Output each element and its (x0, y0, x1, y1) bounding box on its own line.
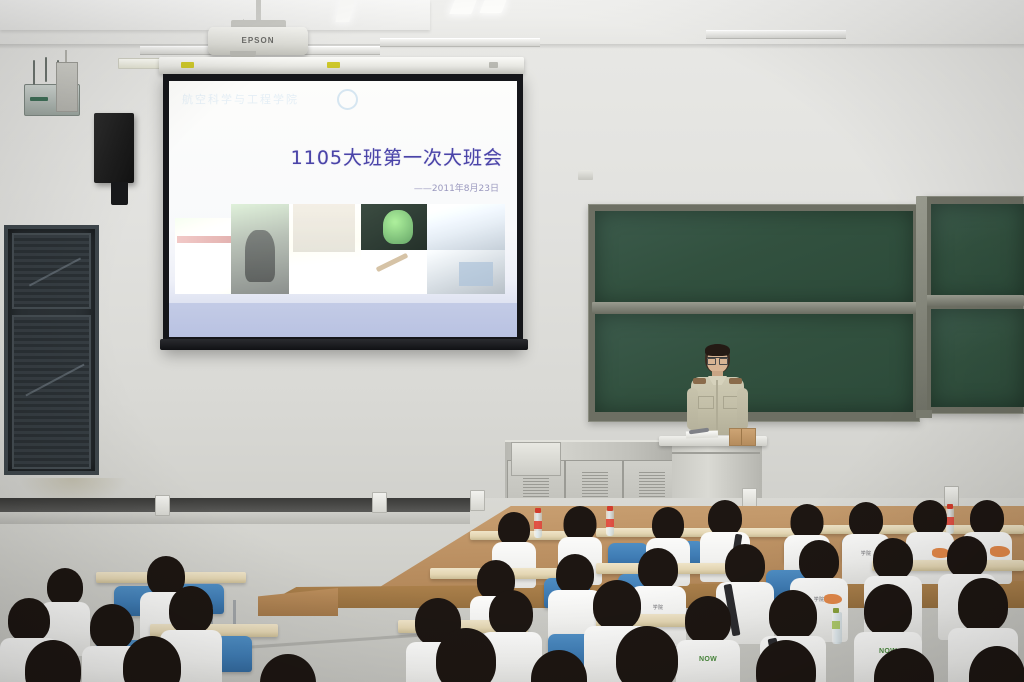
blackboard (588, 196, 1024, 422)
screen-bottom-weight-bar (160, 339, 528, 350)
collage-tile-green-figure (383, 210, 413, 244)
slide-footer-band (169, 303, 517, 337)
slide-title: 1105大班第一次大班会 (169, 143, 503, 170)
student-head (498, 512, 530, 546)
projector-brand-label: EPSON (208, 36, 308, 45)
student-r4-9 (966, 646, 1024, 682)
slide-institution-logo-icon (337, 89, 358, 110)
bottle-cap (607, 506, 613, 511)
student-head (873, 538, 913, 580)
student-head (708, 500, 742, 536)
student-r4-5 (520, 650, 598, 682)
presenter-arm-right (737, 388, 748, 430)
ceiling-projector: EPSON (208, 27, 308, 55)
student-head (874, 648, 934, 682)
classroom-photo-scene: EPSON 航空科学与工程学院 1105大班第一次大班会 ——2011年8月23… (0, 0, 1024, 682)
presenter-arm-left (687, 388, 698, 430)
cardboard-box (729, 428, 756, 446)
student-head (25, 640, 81, 682)
wall-vent (56, 62, 78, 112)
student-head (169, 586, 213, 634)
student-head (769, 590, 817, 640)
wall-batten-right (706, 30, 846, 39)
router-antenna-1 (33, 60, 35, 85)
blackboard-center-rail-left (592, 302, 918, 313)
wall-outlet-2 (372, 492, 387, 513)
student-r4-7 (744, 640, 828, 682)
wall-outlet-3 (470, 490, 485, 511)
tshirt-orange-graphic (824, 594, 842, 604)
bottle-label (832, 621, 840, 629)
projection-screen: 航空科学与工程学院 1105大班第一次大班会 ——2011年8月23日 (163, 74, 523, 349)
water-bottle-5 (832, 612, 842, 644)
slide-canvas: 航空科学与工程学院 1105大班第一次大班会 ——2011年8月23日 (169, 81, 517, 337)
collage-tile-red-banner (177, 236, 235, 243)
screen-label-right (489, 62, 498, 68)
student-head (799, 540, 839, 582)
smoke-detector (578, 170, 593, 180)
cabinet-louver-3 (639, 472, 665, 473)
blackboard-panel-lower-right (931, 309, 1024, 407)
wall-batten-mid (380, 38, 540, 47)
student-head (970, 500, 1004, 536)
student-head (652, 507, 684, 542)
water-bottle-2 (606, 510, 614, 536)
desk-row1-right (596, 528, 796, 537)
router-antenna-2 (45, 57, 47, 82)
student-head (685, 596, 731, 644)
collage-tile-workshop-blue (459, 262, 493, 286)
student-head (531, 650, 587, 682)
blackboard-foot (916, 410, 932, 418)
wall-outlet-1 (155, 495, 170, 516)
screen-label-mid (327, 62, 340, 68)
slide-photo-collage (175, 204, 505, 294)
cabinet-louver-2 (582, 472, 608, 473)
student-head (913, 500, 947, 536)
presenter-shirt-placket (716, 380, 718, 432)
presenter-epaulet-right (729, 378, 742, 384)
collage-tile-equipment (427, 204, 505, 250)
student-r4-6 (604, 626, 690, 682)
student-r4-3 (250, 654, 326, 682)
student-r4-2 (112, 636, 192, 682)
wall-speaker (94, 113, 134, 183)
ceiling-slab (0, 0, 430, 30)
cabinet-open-compartment (511, 442, 561, 476)
blackboard-panel-upper-left (595, 211, 913, 304)
student-head (564, 506, 597, 541)
blackboard-panel-lower-left (595, 314, 913, 412)
collage-tile-trees (293, 204, 355, 252)
student-head (947, 536, 987, 578)
presenter-epaulet-left (693, 378, 706, 384)
collage-tile-aircraft-model (361, 250, 427, 294)
student-head (260, 654, 316, 682)
student-head (969, 646, 1024, 682)
lectern-shelf-line (672, 452, 760, 454)
slide-date-line: ——2011年8月23日 (169, 181, 499, 194)
student-head (958, 578, 1008, 632)
screen-label-left (181, 62, 194, 68)
bottle-cap (833, 608, 839, 613)
wall-ledge (0, 512, 470, 524)
tshirt-logo-text: 学院 (653, 604, 664, 611)
presenter-hair (705, 344, 730, 356)
router-led (30, 97, 48, 101)
student-head (8, 598, 50, 642)
student-head (756, 640, 816, 682)
student-head (616, 626, 678, 682)
student-head (436, 628, 496, 682)
student-head (864, 584, 912, 636)
student-r4-4 (424, 628, 508, 682)
tshirt-front-text: NOW (699, 656, 717, 663)
collage-tile-statue-form (245, 230, 275, 282)
student-r4-8 (862, 648, 946, 682)
student-head (725, 544, 765, 586)
blackboard-panel-upper-right (931, 204, 1024, 299)
louvered-window (4, 225, 99, 475)
window-pane-top (12, 233, 91, 309)
presenter-glasses-icon (707, 357, 728, 363)
bottle-label (606, 519, 614, 527)
student-head (593, 580, 641, 630)
slide-header-text: 航空科学与工程学院 (182, 91, 299, 107)
screen-roller-housing (159, 57, 524, 74)
presenter-pocket-left (698, 396, 714, 409)
student-head (849, 502, 883, 538)
blackboard-center-rail-right (926, 295, 1024, 306)
student-head (123, 636, 181, 682)
blackboard-divider-vertical (916, 196, 927, 414)
wall-baseboard (0, 498, 470, 512)
student-head (791, 504, 824, 539)
student-r4-1 (14, 640, 92, 682)
window-pane-bottom (12, 315, 91, 469)
